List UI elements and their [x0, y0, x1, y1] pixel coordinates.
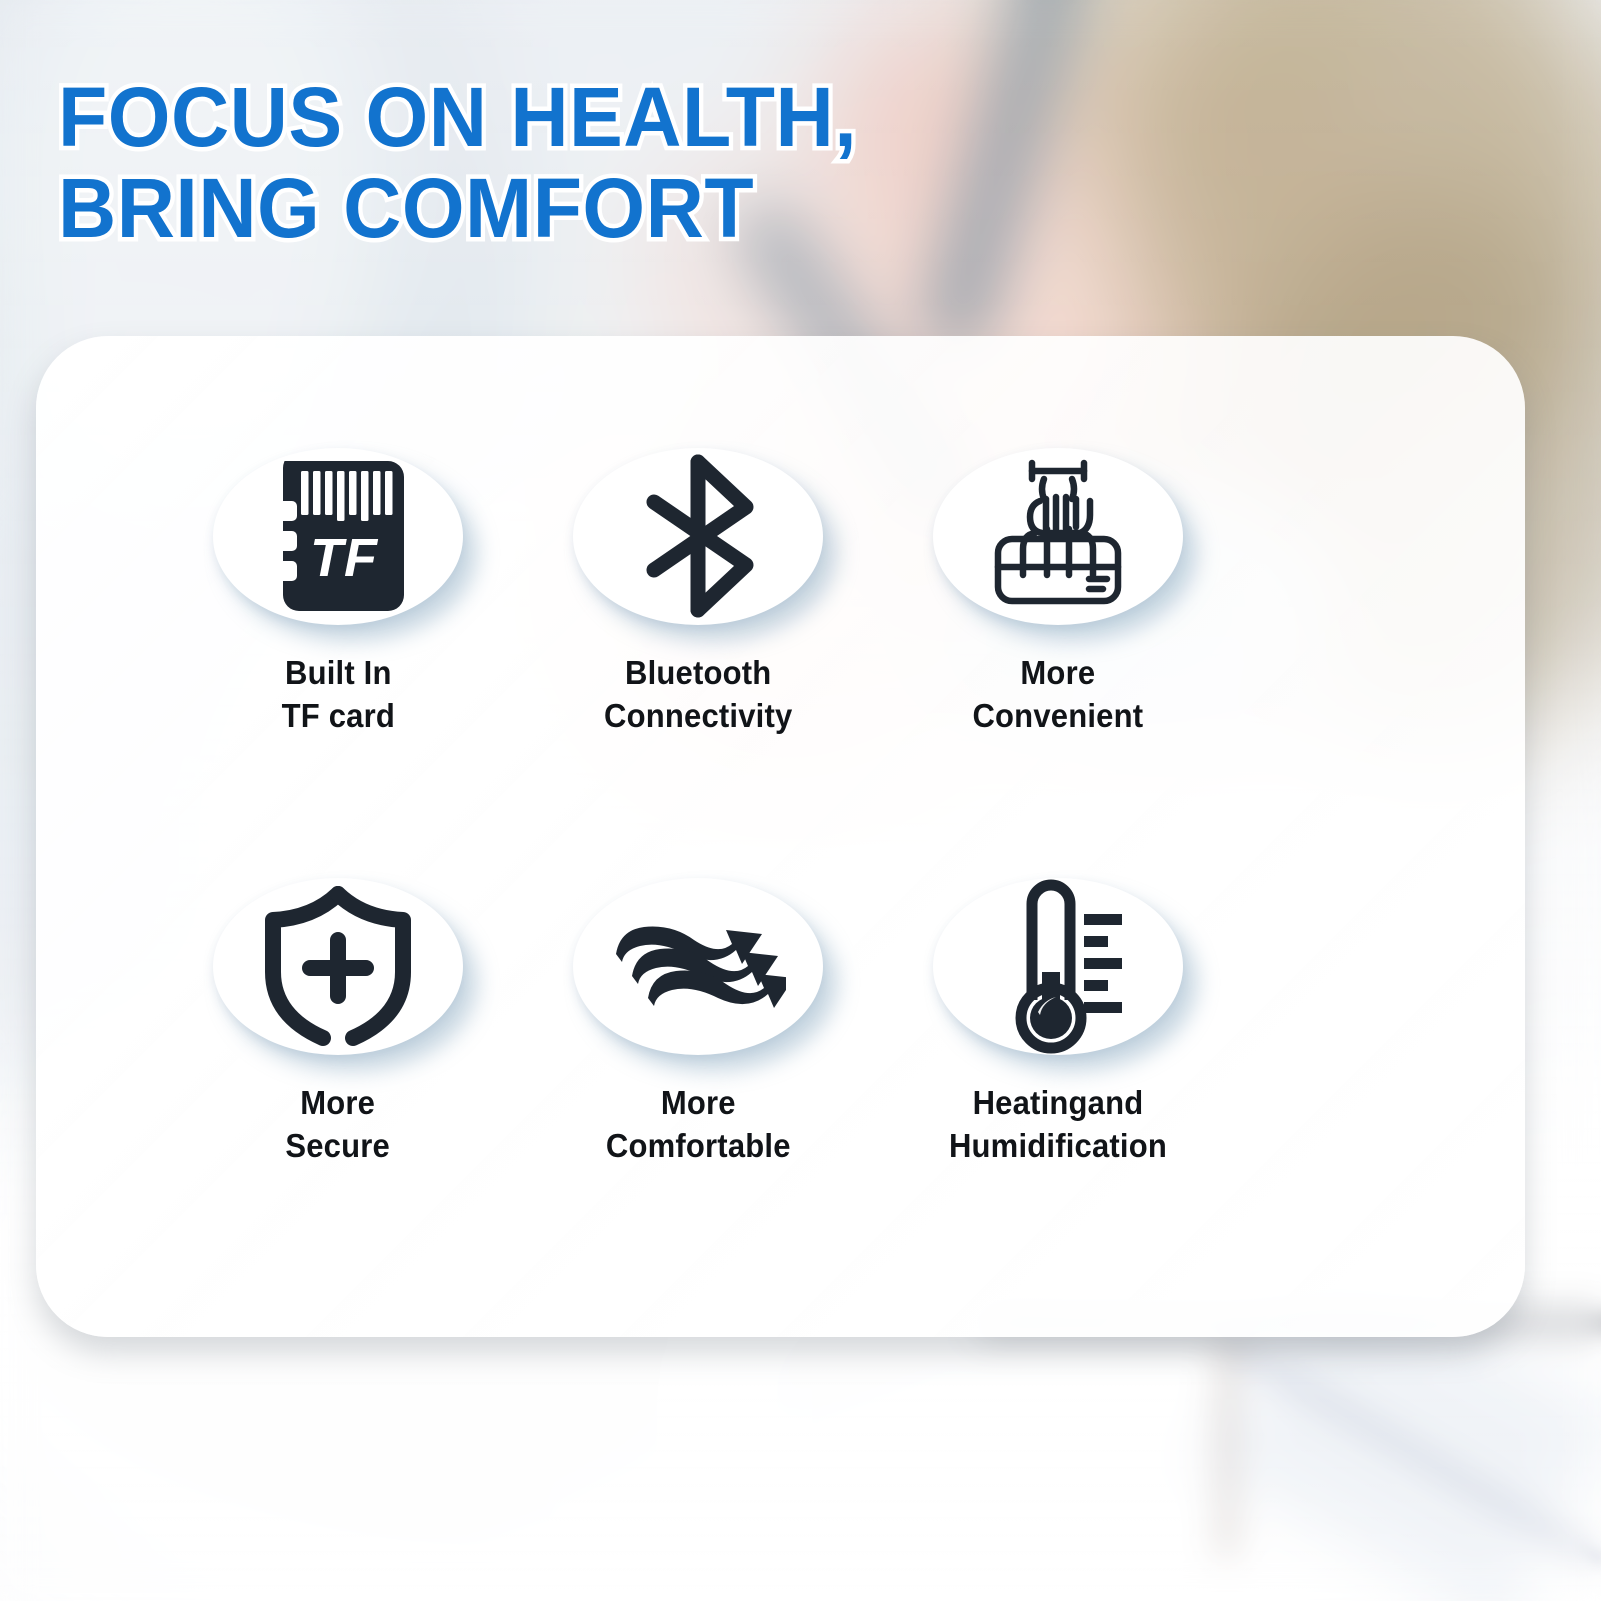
feature-item-more-secure: More Secure	[158, 878, 518, 1168]
icon-badge	[573, 448, 823, 625]
feature-label: Built In TF card	[281, 651, 394, 738]
feature-grid: TF Built In TF card Bluetooth C	[158, 448, 1408, 1168]
page-title: FOCUS ON HEALTH, BRING COMFORT	[58, 72, 1018, 253]
tf-card-icon: TF	[272, 461, 404, 611]
feature-item-more-comfortable: More Comfortable	[518, 878, 878, 1168]
icon-badge	[933, 448, 1183, 625]
feature-card: TF Built In TF card Bluetooth C	[36, 336, 1525, 1337]
feature-label: Heatingand Humidification	[949, 1081, 1167, 1168]
bluetooth-icon	[634, 452, 762, 620]
feature-label: Bluetooth Connectivity	[604, 651, 792, 738]
icon-badge	[573, 878, 823, 1055]
icon-badge	[933, 878, 1183, 1055]
promo-banner: FOCUS ON HEALTH, BRING COMFORT	[0, 0, 1601, 1601]
feature-label: More Comfortable	[606, 1081, 791, 1168]
travel-bag-hand-icon	[977, 455, 1139, 617]
feature-label: More Convenient	[973, 651, 1144, 738]
tf-card-label: TF	[310, 528, 379, 588]
feature-label: More Secure	[286, 1081, 391, 1168]
airflow-arrows-icon	[610, 906, 786, 1026]
shield-plus-icon	[261, 884, 415, 1048]
feature-item-heating-humidification: Heatingand Humidification	[878, 878, 1238, 1168]
icon-badge	[213, 878, 463, 1055]
icon-badge: TF	[213, 448, 463, 625]
thermometer-icon	[988, 878, 1128, 1054]
feature-item-tf-card: TF Built In TF card	[158, 448, 518, 738]
feature-item-bluetooth: Bluetooth Connectivity	[518, 448, 878, 738]
feature-item-more-convenient: More Convenient	[878, 448, 1238, 738]
